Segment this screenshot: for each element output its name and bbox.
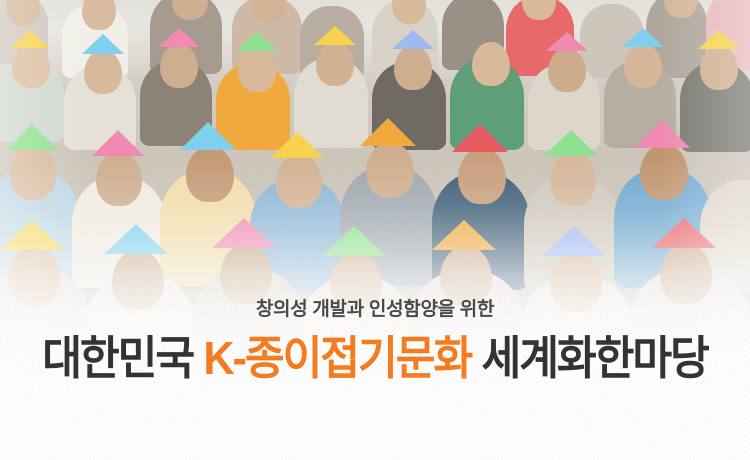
paper-crown-icon (322, 226, 386, 256)
paper-crown-icon (10, 30, 50, 48)
paper-crown-icon (104, 224, 168, 254)
person-head (640, 144, 688, 200)
paper-crown-icon (180, 122, 236, 150)
paper-crown-icon (392, 30, 434, 49)
paper-crown-icon (212, 218, 276, 248)
person-head (458, 148, 506, 204)
paper-crown-icon (546, 32, 588, 51)
paper-crown-icon (634, 120, 690, 148)
paper-crown-icon (6, 124, 58, 150)
paper-crown-icon (542, 226, 606, 256)
paper-crown-icon (698, 30, 740, 49)
paper-crown-icon (452, 124, 508, 152)
person-head (82, 0, 116, 30)
person-head (186, 146, 234, 202)
person-head (12, 44, 50, 88)
paper-crown-icon (622, 28, 664, 47)
person-head (316, 42, 354, 86)
paper-crown-icon (92, 130, 144, 156)
banner-title-accent: K-종이접기문화 (203, 332, 471, 384)
paper-crown-icon (270, 132, 324, 158)
person-head (440, 246, 492, 306)
person-head (96, 152, 142, 206)
banner-title-tail: 세계화한마당 (481, 332, 707, 384)
person-head (366, 142, 414, 198)
person-head (394, 46, 432, 90)
person-head (472, 42, 510, 86)
paper-crown-icon (314, 26, 356, 45)
person-head (624, 44, 662, 88)
person-head (84, 50, 122, 94)
banner-title-lead: 대한민국 (42, 332, 193, 384)
paper-crown-icon (82, 34, 124, 54)
paper-crown-icon (236, 32, 278, 51)
headline-block: 창의성 개발과 인성함양을 위한 대한민국K-종이접기문화세계화한마당 (0, 300, 750, 381)
banner-subtitle: 창의성 개발과 인성함양을 위한 (0, 300, 750, 319)
paper-crown-icon (544, 130, 598, 156)
person-head (548, 48, 586, 92)
person-head (660, 244, 712, 304)
paper-crown-icon (432, 220, 496, 250)
paper-crown-icon (0, 220, 64, 250)
person-head (220, 244, 272, 304)
crowd-photo-layer (0, 0, 750, 460)
person-head (8, 246, 60, 306)
paper-crown-icon (158, 28, 200, 47)
person-head (550, 152, 596, 206)
person-head (10, 146, 56, 200)
banner-title: 대한민국K-종이접기문화세계화한마당 (23, 335, 728, 381)
person-head (276, 154, 322, 208)
person-head (238, 48, 276, 92)
person-head (160, 44, 198, 88)
event-banner: 창의성 개발과 인성함양을 위한 대한민국K-종이접기문화세계화한마당 (0, 0, 750, 460)
paper-crown-icon (652, 218, 716, 248)
paper-crown-icon (360, 118, 416, 146)
person-head (700, 46, 738, 90)
